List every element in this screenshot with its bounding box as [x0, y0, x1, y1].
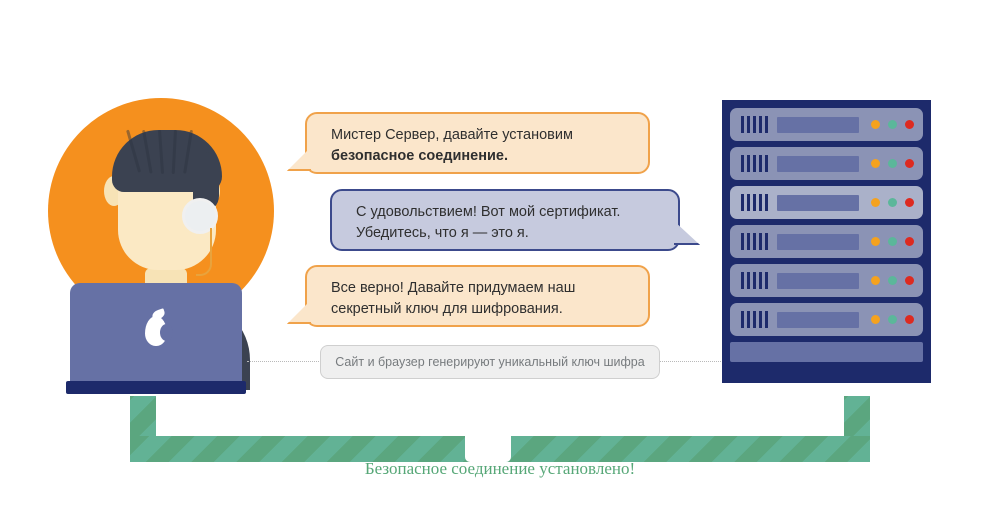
padlock-icon — [455, 390, 521, 462]
vent-bars-icon — [741, 272, 768, 289]
led-orange-icon — [871, 237, 880, 246]
bubble-line-2: Убедитесь, что я — это я. — [356, 225, 529, 241]
status-leds — [871, 315, 914, 324]
bubble-text: Все верно! Давайте придумаем нашсекретны… — [307, 267, 648, 331]
vent-bars-icon — [741, 311, 768, 328]
led-orange-icon — [871, 159, 880, 168]
led-orange-icon — [871, 198, 880, 207]
drive-slot — [777, 273, 859, 289]
led-red-icon — [905, 159, 914, 168]
speech-bubble-server-1: С удовольствием! Вот мой сертификат.Убед… — [330, 189, 680, 251]
drive-slot — [777, 234, 859, 250]
key-generation-label: Сайт и браузер генерируют уникальный клю… — [335, 355, 644, 369]
bubble-line-2: секретный ключ для шифрования. — [331, 301, 563, 317]
bubble-line-2: безопасное соединение. — [331, 148, 508, 164]
bubble-tail — [287, 300, 311, 324]
led-red-icon — [905, 315, 914, 324]
monocle-chain — [196, 228, 212, 276]
server-unit — [730, 108, 923, 141]
blank-panel — [730, 342, 923, 362]
led-green-icon — [888, 237, 897, 246]
server-rack — [722, 100, 931, 383]
bubble-text: Мистер Сервер, давайте установимбезопасн… — [307, 114, 648, 178]
connector-dotted-left — [247, 361, 321, 362]
infographic-canvas: Мистер Сервер, давайте установимбезопасн… — [0, 0, 1000, 523]
led-green-icon — [888, 315, 897, 324]
led-red-icon — [905, 237, 914, 246]
led-red-icon — [905, 120, 914, 129]
bubble-tail — [287, 147, 311, 171]
speech-bubble-client-2: Все верно! Давайте придумаем нашсекретны… — [305, 265, 650, 327]
server-unit — [730, 186, 923, 219]
status-leds — [871, 159, 914, 168]
vent-bars-icon — [741, 116, 768, 133]
speech-bubble-client-1: Мистер Сервер, давайте установимбезопасн… — [305, 112, 650, 174]
server-unit — [730, 225, 923, 258]
status-leds — [871, 198, 914, 207]
padlock-body — [465, 418, 511, 462]
laptop-base — [66, 381, 246, 394]
drive-slot — [777, 117, 859, 133]
status-leds — [871, 237, 914, 246]
vent-bars-icon — [741, 233, 768, 250]
bubble-line-1: С удовольствием! Вот мой сертификат. — [356, 204, 620, 220]
vent-bars-icon — [741, 155, 768, 172]
drive-slot — [777, 156, 859, 172]
server-unit — [730, 303, 923, 336]
status-leds — [871, 120, 914, 129]
pear-logo-bite — [160, 324, 173, 341]
key-generation-bar: Сайт и браузер генерируют уникальный клю… — [320, 345, 660, 379]
led-red-icon — [905, 276, 914, 285]
led-green-icon — [888, 276, 897, 285]
server-unit — [730, 264, 923, 297]
bubble-text: С удовольствием! Вот мой сертификат.Убед… — [332, 191, 678, 255]
led-red-icon — [905, 198, 914, 207]
led-green-icon — [888, 198, 897, 207]
led-green-icon — [888, 159, 897, 168]
led-orange-icon — [871, 120, 880, 129]
drive-slot — [777, 312, 859, 328]
connector-dotted-right — [659, 361, 723, 362]
bubble-line-1: Все верно! Давайте придумаем наш — [331, 280, 575, 296]
caption-text: Безопасное соединение установлено! — [0, 459, 1000, 479]
drive-slot — [777, 195, 859, 211]
led-green-icon — [888, 120, 897, 129]
vent-bars-icon — [741, 194, 768, 211]
status-leds — [871, 276, 914, 285]
led-orange-icon — [871, 315, 880, 324]
bubble-line-1: Мистер Сервер, давайте установим — [331, 127, 573, 143]
server-unit — [730, 147, 923, 180]
led-orange-icon — [871, 276, 880, 285]
